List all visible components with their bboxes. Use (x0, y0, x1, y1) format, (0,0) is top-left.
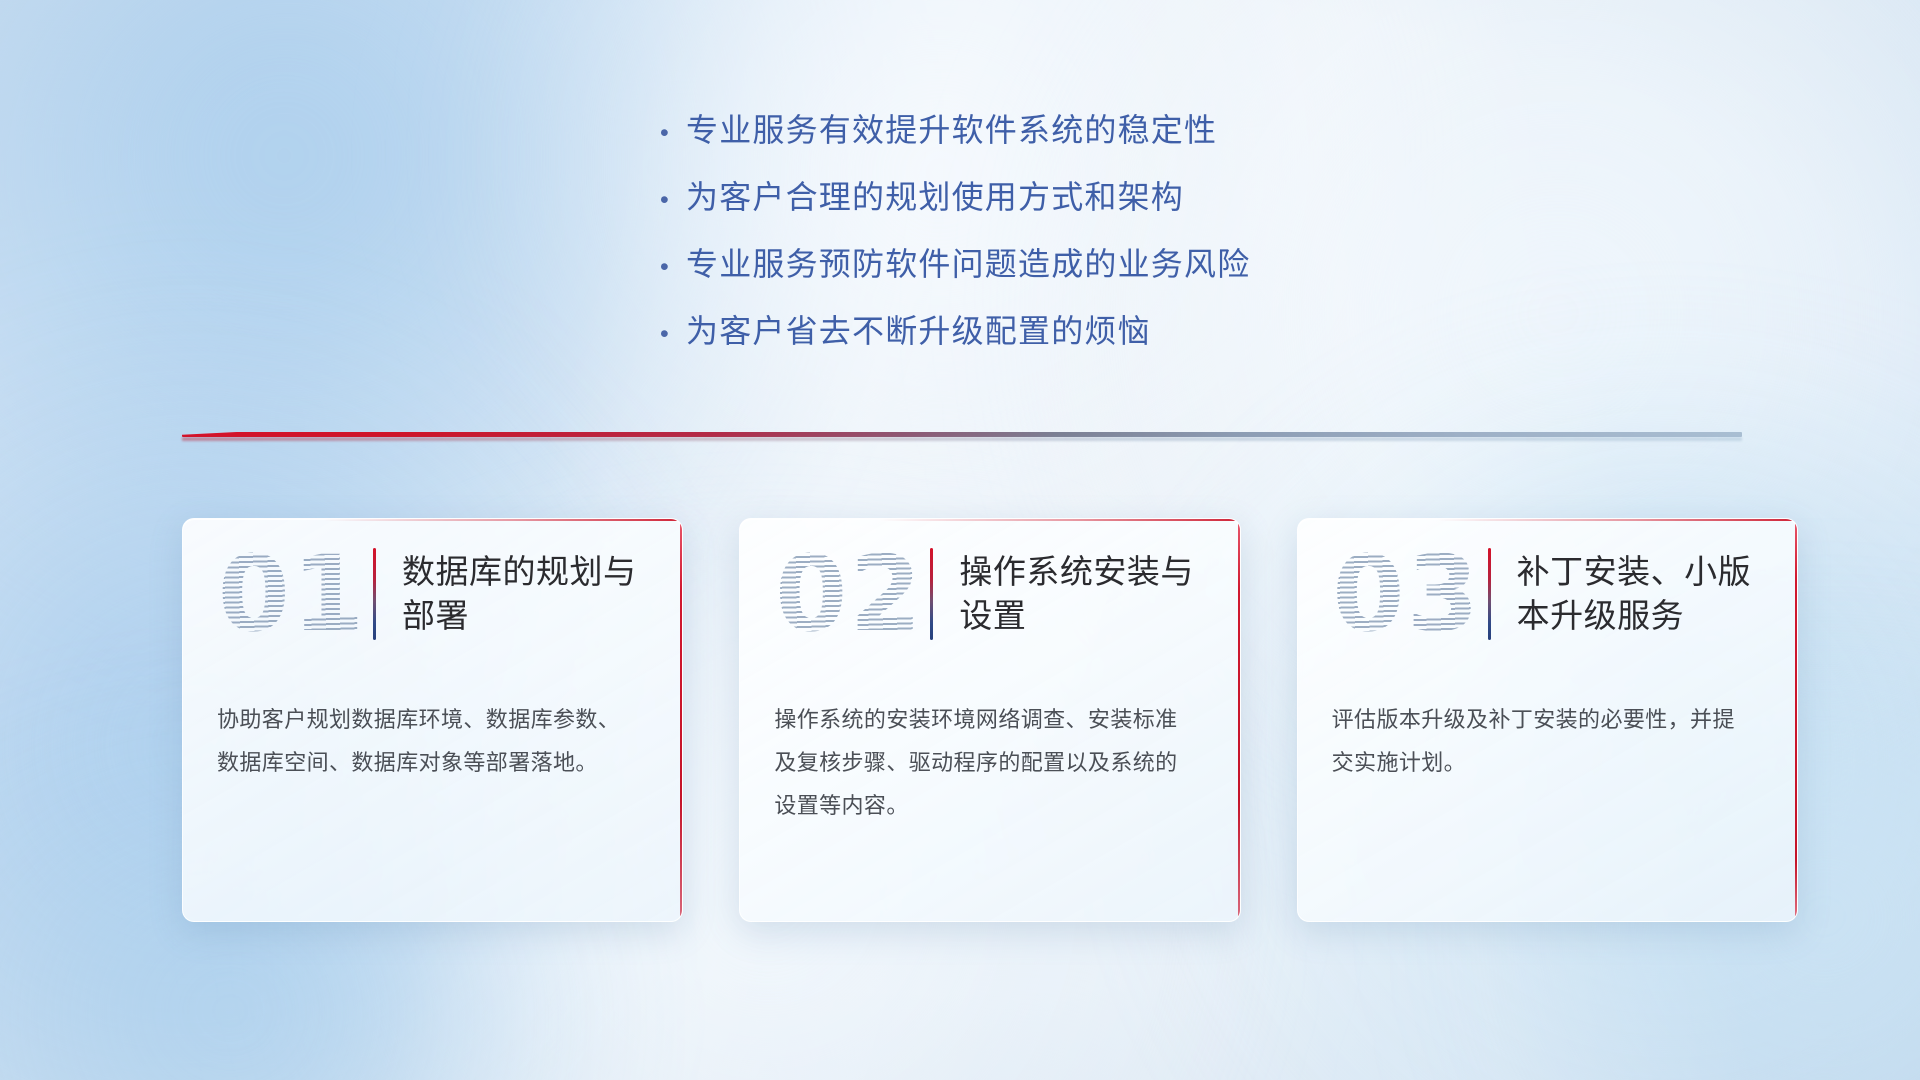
service-card-accent-rule (930, 548, 933, 640)
service-card[interactable]: 02操作系统安装与设置操作系统的安装环境网络调查、安装标准及复核步骤、驱动程序的… (739, 518, 1240, 922)
bullet-item: •专业服务预防软件问题造成的业务风险 (660, 239, 1250, 285)
service-card-title: 数据库的规划与部署 (402, 550, 656, 638)
service-card-title: 补丁安装、小版本升级服务 (1517, 550, 1771, 638)
service-card-accent-rule (1488, 548, 1491, 640)
service-card-header: 02操作系统安装与设置 (740, 519, 1239, 669)
bullet-dot-icon: • (660, 188, 686, 213)
bullet-dot-icon: • (660, 255, 686, 280)
bullet-item-label: 为客户省去不断升级配置的烦恼 (686, 306, 1151, 352)
bullet-dot-icon: • (660, 322, 686, 347)
service-card-header: 03补丁安装、小版本升级服务 (1298, 519, 1797, 669)
benefits-bullet-list: •专业服务有效提升软件系统的稳定性•为客户合理的规划使用方式和架构•专业服务预防… (660, 105, 1250, 352)
bullet-item-label: 专业服务预防软件问题造成的业务风险 (686, 239, 1250, 285)
bullet-dot-icon: • (660, 121, 686, 146)
service-card-number: 01 (217, 542, 367, 646)
service-card-title: 操作系统安装与设置 (959, 550, 1213, 638)
service-card-body: 操作系统的安装环境网络调查、安装标准及复核步骤、驱动程序的配置以及系统的设置等内… (740, 669, 1239, 828)
bullet-item: •为客户合理的规划使用方式和架构 (660, 172, 1250, 218)
bullet-item: •为客户省去不断升级配置的烦恼 (660, 306, 1250, 352)
service-card-number: 03 (1332, 542, 1482, 646)
bullet-item: •专业服务有效提升软件系统的稳定性 (660, 105, 1250, 151)
service-card-list: 01数据库的规划与部署协助客户规划数据库环境、数据库参数、数据库空间、数据库对象… (182, 518, 1798, 922)
bullet-item-label: 专业服务有效提升软件系统的稳定性 (686, 105, 1217, 151)
service-card[interactable]: 03补丁安装、小版本升级服务评估版本升级及补丁安装的必要性，并提交实施计划。 (1297, 518, 1798, 922)
service-card-body: 协助客户规划数据库环境、数据库参数、数据库空间、数据库对象等部署落地。 (183, 669, 682, 785)
service-card-body: 评估版本升级及补丁安装的必要性，并提交实施计划。 (1298, 669, 1797, 785)
service-card-header: 01数据库的规划与部署 (183, 519, 682, 669)
service-card-number: 02 (774, 542, 924, 646)
section-divider (182, 430, 1742, 446)
bullet-item-label: 为客户合理的规划使用方式和架构 (686, 172, 1184, 218)
service-card-accent-rule (373, 548, 376, 640)
divider-shadow-line (182, 437, 1742, 441)
service-card[interactable]: 01数据库的规划与部署协助客户规划数据库环境、数据库参数、数据库空间、数据库对象… (182, 518, 683, 922)
